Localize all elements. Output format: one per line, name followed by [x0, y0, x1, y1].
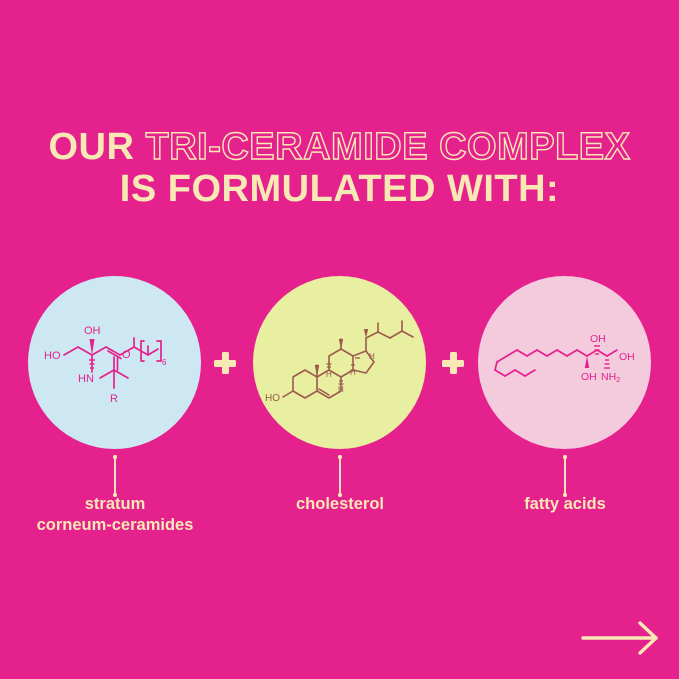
- atom-label-oh-top: OH: [590, 333, 606, 345]
- ceramide-molecule-diagram: HO OH HN O R 6: [40, 308, 190, 418]
- headline-word-tri-ceramide-complex: TRI-CERAMIDE COMPLEX: [146, 126, 631, 168]
- connector-stem: [114, 455, 116, 497]
- plus-operator-2: [442, 352, 464, 374]
- arrow-right-icon[interactable]: [580, 618, 664, 656]
- atom-label-hn: HN: [78, 373, 94, 385]
- connector-dot-top: [563, 455, 567, 459]
- connector-dot-top: [338, 455, 342, 459]
- plus-bar-vertical: [450, 352, 457, 374]
- atom-label-h-1: H: [326, 370, 332, 379]
- atom-label-oh-end: OH: [619, 351, 635, 363]
- ingredient-circle-cholesterol: HO H H H H: [253, 276, 426, 449]
- atom-label-n6: 6: [162, 358, 167, 367]
- ingredient-label-fatty-acids: fatty acids: [450, 494, 679, 515]
- connector-stem: [564, 455, 566, 497]
- atom-label-h-4: H: [369, 352, 375, 361]
- atom-label-oh: OH: [84, 325, 101, 337]
- ingredient-circle-ceramide: HO OH HN O R 6: [28, 276, 201, 449]
- atom-label-ho: HO: [265, 393, 280, 404]
- atom-label-h-2: H: [338, 385, 344, 394]
- atom-label-r: R: [110, 393, 118, 405]
- atom-label-oh-bottom: OH: [581, 371, 597, 383]
- atom-label-h-3: H: [350, 368, 356, 377]
- atom-label-nh2: NH2: [601, 371, 620, 384]
- plus-bar-vertical: [222, 352, 229, 374]
- atom-label-o: O: [122, 349, 131, 361]
- ingredient-label-line1: fatty acids: [524, 495, 606, 513]
- cholesterol-molecule-diagram: HO H H H H: [265, 303, 415, 423]
- ingredient-label-line1: stratum: [85, 495, 146, 513]
- connector-line-cholesterol: [338, 455, 341, 497]
- headline-word-our: OUR: [48, 126, 134, 168]
- connector-line-ceramide: [113, 455, 116, 497]
- connector-stem: [339, 455, 341, 497]
- ingredient-label-ceramide: stratum corneum-ceramides: [0, 494, 230, 535]
- promo-poster: OUR TRI-CERAMIDE COMPLEX IS FORMULATED W…: [0, 0, 679, 679]
- headline-space: [134, 126, 145, 168]
- ingredient-label-line1: cholesterol: [296, 495, 384, 513]
- plus-operator-1: [214, 352, 236, 374]
- ingredient-row: HO OH HN O R 6: [0, 276, 679, 451]
- ingredient-label-line2: corneum-ceramides: [0, 515, 230, 536]
- fatty-acid-molecule-diagram: OH OH NH2 OH: [489, 318, 641, 408]
- connector-line-fatty-acids: [563, 455, 566, 497]
- ingredient-circle-fatty-acids: OH OH NH2 OH: [478, 276, 651, 449]
- connector-dot-top: [113, 455, 117, 459]
- headline-line-1: OUR TRI-CERAMIDE COMPLEX: [0, 128, 679, 166]
- headline-line-2: IS FORMULATED WITH:: [0, 170, 679, 208]
- atom-label-ho: HO: [44, 350, 61, 362]
- ingredient-label-cholesterol: cholesterol: [225, 494, 455, 515]
